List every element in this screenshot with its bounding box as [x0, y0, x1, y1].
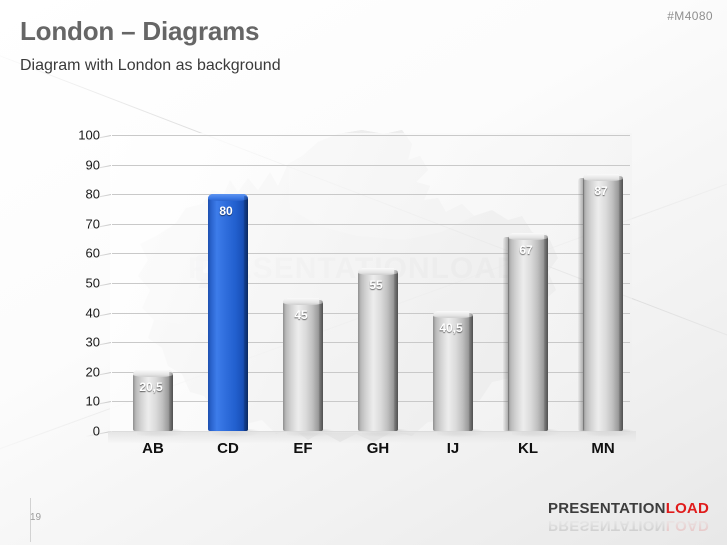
bar-value-cd: 80	[208, 204, 244, 218]
bar-value-gh: 55	[358, 278, 394, 292]
y-axis-tick-10: 10	[86, 394, 100, 409]
y-axis-tick-70: 70	[86, 216, 100, 231]
logo-text-presentation: PRESENTATION	[548, 500, 666, 517]
bar-slot-cd: 80	[208, 135, 248, 431]
page-number: 19	[30, 512, 41, 523]
y-axis-tick-0: 0	[93, 424, 100, 439]
y-axis-tick-100: 100	[78, 128, 100, 143]
y-axis-tick-80: 80	[86, 187, 100, 202]
bar-slot-mn: 87	[583, 135, 623, 431]
x-axis-labels: AB CD EF GH IJ KL MN	[112, 440, 630, 464]
y-axis-tick-30: 30	[86, 335, 100, 350]
logo-text-load: LOAD	[666, 500, 709, 517]
bar-ab[interactable]: 20,5	[133, 370, 173, 431]
y-axis-tick-90: 90	[86, 157, 100, 172]
x-axis-label-ef: EF	[293, 440, 312, 457]
bar-value-ef: 45	[283, 308, 319, 322]
bar-mn[interactable]: 87	[583, 174, 623, 432]
y-axis-tick-60: 60	[86, 246, 100, 261]
bar-value-ab: 20,5	[133, 380, 169, 394]
bar-gh[interactable]: 55	[358, 268, 398, 431]
y-axis-tick-40: 40	[86, 305, 100, 320]
bar-ij[interactable]: 40,5	[433, 311, 473, 431]
bar-slot-ij: 40,5	[433, 135, 473, 431]
bar-slot-ab: 20,5	[133, 135, 173, 431]
bar-ef[interactable]: 45	[283, 298, 323, 431]
slide: London – Diagrams Diagram with London as…	[0, 0, 727, 545]
bar-value-kl: 67	[508, 243, 544, 257]
x-axis-label-ab: AB	[142, 440, 164, 457]
bar-cd[interactable]: 80	[208, 194, 248, 431]
bar-value-ij: 40,5	[433, 321, 469, 335]
bar-slot-gh: 55	[358, 135, 398, 431]
x-axis-label-kl: KL	[518, 440, 538, 457]
y-axis-tick-20: 20	[86, 364, 100, 379]
presentationload-logo-reflection: PRESENTATIONLOAD	[548, 517, 709, 534]
bar-slot-ef: 45	[283, 135, 323, 431]
plot-area: 100 90 80 70 60 50 40 30 20 10 0 20,5 80	[112, 135, 630, 431]
bar-kl[interactable]: 67	[508, 233, 548, 431]
x-axis-label-ij: IJ	[447, 440, 460, 457]
bar-slot-kl: 67	[508, 135, 548, 431]
presentationload-logo: PRESENTATIONLOAD	[548, 500, 709, 517]
x-axis-label-mn: MN	[591, 440, 614, 457]
y-axis-tick-50: 50	[86, 276, 100, 291]
bar-value-mn: 87	[583, 184, 619, 198]
bar-chart: PRESENTATIONLOAD 100 90 80 70 60 50 40 3…	[0, 0, 727, 480]
logo-reflection-text-presentation: PRESENTATION	[548, 517, 666, 534]
x-axis-label-gh: GH	[367, 440, 390, 457]
logo-reflection-text-load: LOAD	[666, 517, 709, 534]
bar-left-edge	[578, 178, 584, 432]
x-axis-label-cd: CD	[217, 440, 239, 457]
bar-left-edge	[503, 237, 509, 431]
